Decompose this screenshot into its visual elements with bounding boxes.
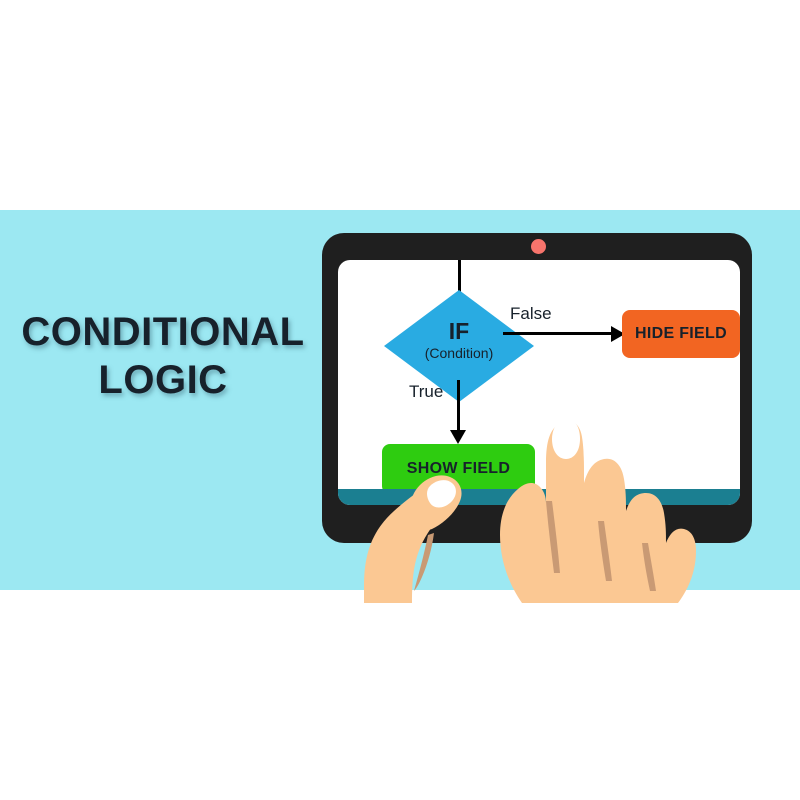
tablet-screen: IF (Condition) False True HIDE FIELD SHO… — [338, 260, 740, 505]
camera-icon — [531, 239, 546, 254]
page-title: CONDITIONAL LOGIC — [8, 308, 318, 404]
arrow-true-head-icon — [450, 430, 466, 444]
arrow-false-branch — [503, 332, 615, 335]
page-title-line-2: LOGIC — [8, 356, 318, 404]
decision-subtitle: (Condition) — [384, 345, 534, 361]
illustration-canvas: CONDITIONAL LOGIC IF (Condition) False T… — [0, 0, 800, 800]
home-button[interactable] — [522, 505, 554, 537]
branch-label-true: True — [409, 382, 455, 402]
branch-label-false: False — [510, 304, 580, 324]
page-title-line-1: CONDITIONAL — [8, 308, 318, 356]
tablet-device: IF (Condition) False True HIDE FIELD SHO… — [322, 233, 752, 543]
arrow-into-decision — [458, 260, 461, 292]
hide-field-node[interactable]: HIDE FIELD — [622, 310, 740, 358]
flowchart: IF (Condition) False True HIDE FIELD SHO… — [338, 260, 740, 505]
arrow-true-branch — [457, 380, 460, 435]
show-field-node[interactable]: SHOW FIELD — [382, 444, 535, 494]
screen-taskbar — [338, 489, 740, 505]
